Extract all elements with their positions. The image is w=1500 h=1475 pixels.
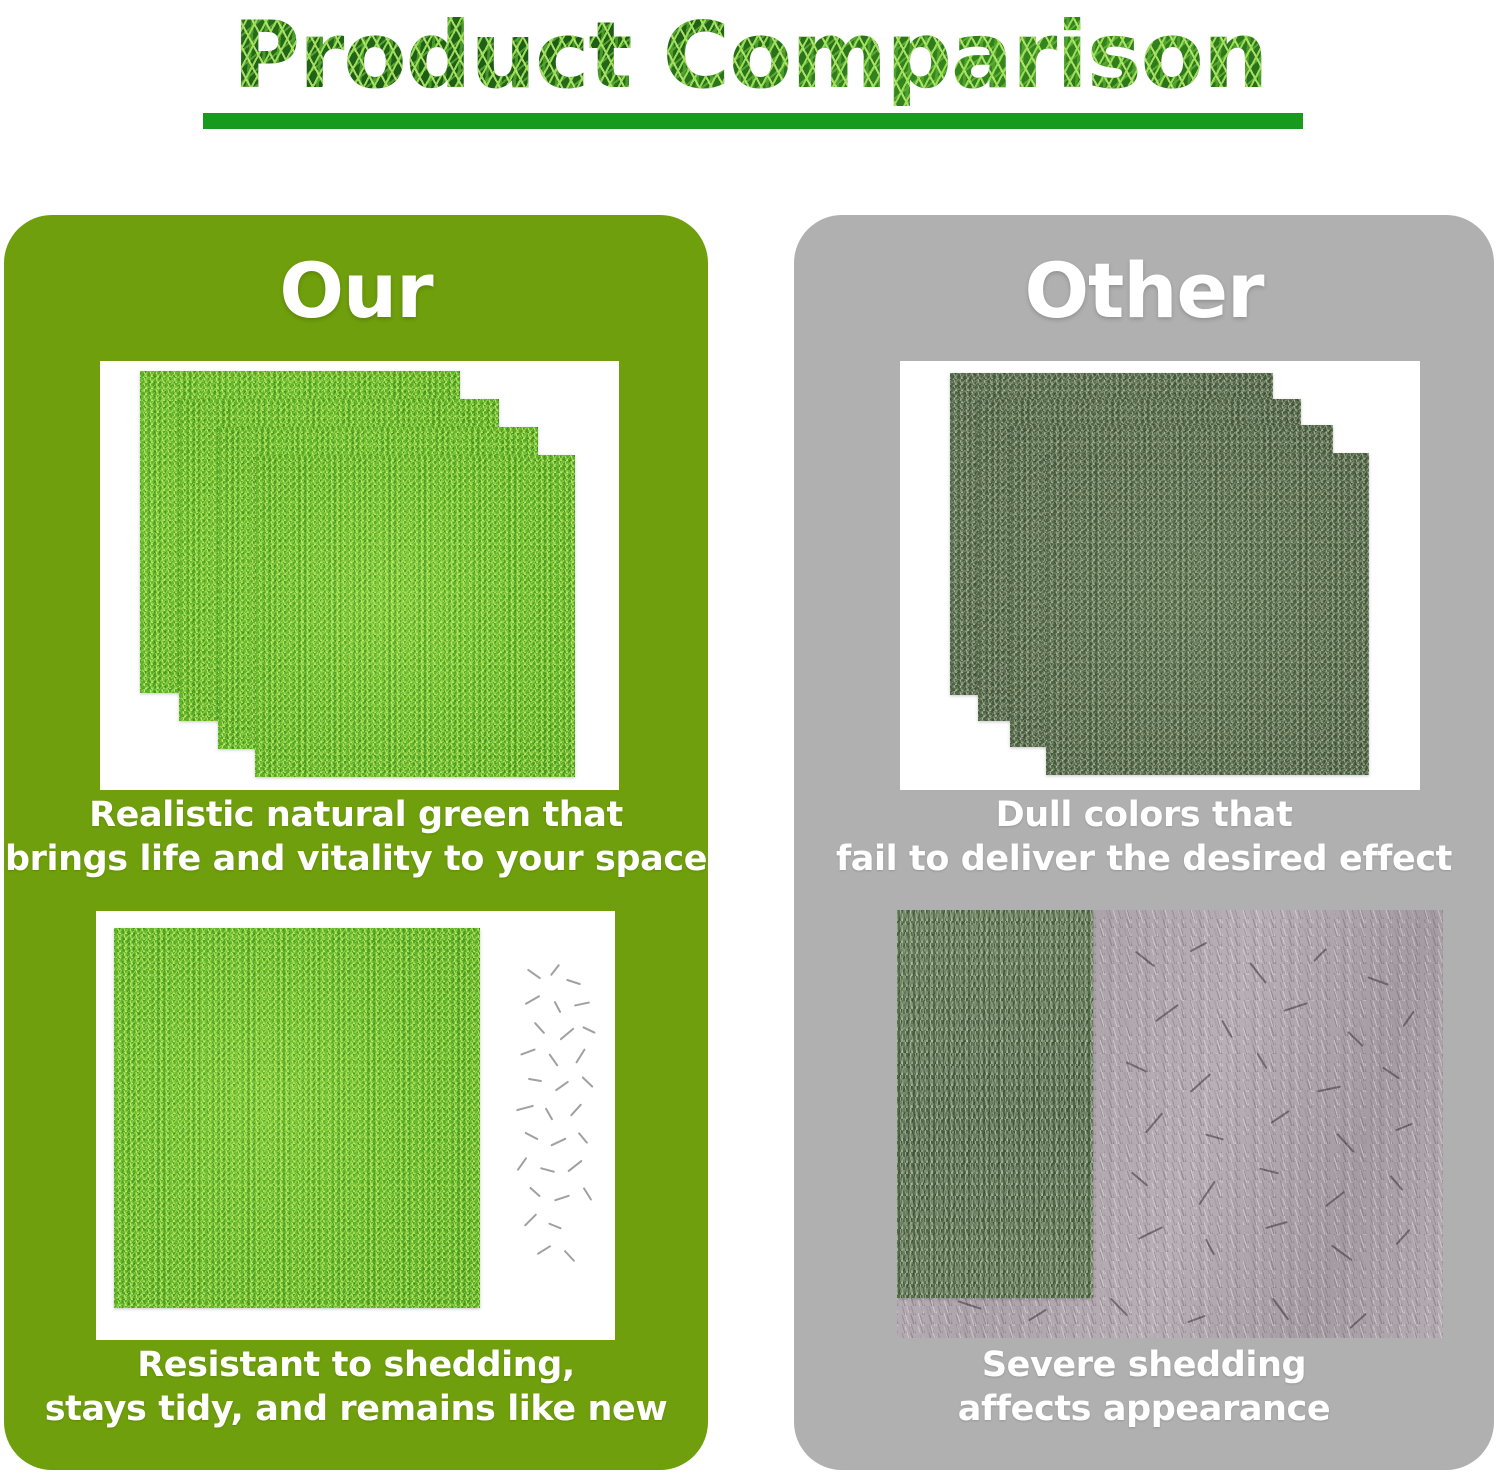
loose-fiber (583, 1187, 593, 1201)
loose-fiber (537, 1245, 552, 1255)
caption-line: fail to deliver the desired effect (794, 837, 1494, 881)
caption-line: Resistant to shedding, (4, 1343, 708, 1387)
panel-heading-our: Our (4, 243, 708, 339)
photo-frame-our-top (100, 361, 619, 790)
comparison-panel-our: Our Realistic natural green that brings … (4, 215, 708, 1470)
loose-fiber (570, 1103, 582, 1116)
panel-heading-other: Other (794, 243, 1494, 339)
page-title: Product Comparison (0, 2, 1500, 110)
loose-fiber (550, 964, 560, 976)
grass-mat-dull-4 (1046, 453, 1369, 775)
loose-fiber (545, 1107, 554, 1120)
loose-fiber (527, 969, 541, 980)
loose-fiber (524, 1132, 538, 1141)
loose-fiber (554, 1195, 570, 1202)
loose-fiber (548, 1053, 558, 1066)
loose-fiber (540, 1167, 555, 1173)
caption-line: Severe shedding (794, 1343, 1494, 1387)
loose-fiber (578, 1132, 589, 1144)
loose-fiber (520, 1048, 536, 1055)
loose-fiber (566, 979, 581, 986)
caption-other-top: Dull colors that fail to deliver the des… (794, 793, 1494, 881)
comparison-panel-other: Other Dull colors that fail to deliver t… (794, 215, 1494, 1470)
loose-fiber (555, 1081, 569, 1092)
photo-frame-our-bottom (96, 911, 615, 1340)
grass-mat-dull-edge (897, 910, 1093, 1298)
grass-mat-bright-single (114, 928, 480, 1308)
loose-fiber (581, 1076, 593, 1088)
loose-fiber (567, 1160, 582, 1173)
title-block: Product Comparison (0, 0, 1500, 200)
loose-fiber (575, 1048, 586, 1063)
loose-fiber (525, 995, 541, 1005)
loose-fiber (550, 1138, 566, 1147)
photo-frame-other-top (900, 361, 1420, 790)
caption-line: stays tidy, and remains like new (4, 1387, 708, 1431)
caption-line: brings life and vitality to your space (4, 837, 708, 881)
loose-fiber (554, 1001, 562, 1013)
grass-mat-bright-4 (255, 455, 575, 777)
caption-line: Realistic natural green that (4, 793, 708, 837)
loose-fiber (528, 1078, 542, 1082)
caption-line: Dull colors that (794, 793, 1494, 837)
loose-fiber (529, 1187, 541, 1198)
loose-fiber (524, 1213, 537, 1226)
loose-fiber (574, 1001, 590, 1006)
caption-our-bottom: Resistant to shedding, stays tidy, and r… (4, 1343, 708, 1431)
loose-fiber (564, 1250, 576, 1262)
caption-line: affects appearance (794, 1387, 1494, 1431)
loose-fiber (517, 1157, 528, 1171)
photo-frame-other-bottom (897, 910, 1443, 1338)
title-underline-bar (203, 113, 1303, 129)
loose-fiber (559, 1027, 574, 1040)
loose-fiber (534, 1022, 546, 1034)
caption-our-top: Realistic natural green that brings life… (4, 793, 708, 881)
loose-fiber (582, 1026, 596, 1034)
caption-other-bottom: Severe shedding affects appearance (794, 1343, 1494, 1431)
loose-fiber (516, 1105, 534, 1112)
loose-fiber (548, 1222, 562, 1229)
